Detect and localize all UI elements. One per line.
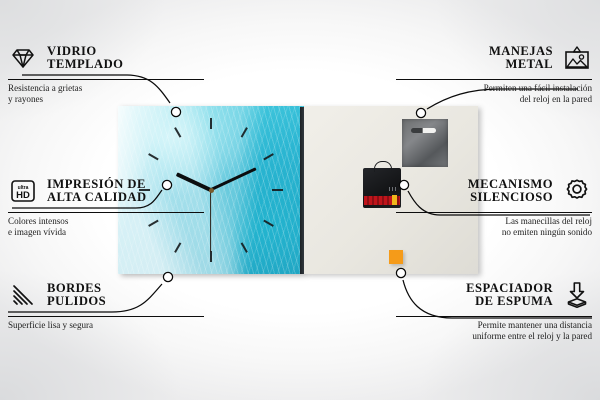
feature-divider (8, 316, 204, 317)
feature-title: BORDES PULIDOS (47, 282, 106, 309)
orange-foam-spacer (389, 250, 403, 264)
feature-divider (396, 212, 592, 213)
clock-tick (210, 118, 212, 129)
feature-tempered-glass: VIDRIO TEMPLADO Resistencia a grietas y … (8, 40, 204, 106)
feature-description: Permite mantener una distancia uniforme … (396, 320, 592, 343)
feature-metal-handles: MANEJAS METAL Permiten una fácil instala… (396, 40, 592, 106)
mechanism-label (364, 196, 400, 205)
feature-header: VIDRIO TEMPLADO (8, 40, 204, 76)
diamond-icon (8, 43, 38, 73)
feature-title: MANEJAS METAL (489, 45, 553, 72)
feature-header: BORDES PULIDOS (8, 277, 204, 313)
clock-tick (210, 251, 212, 262)
svg-text:HD: HD (16, 190, 30, 201)
ultra-hd-icon: ultra HD (8, 176, 38, 206)
feature-divider (8, 79, 204, 80)
feature-header: ultra HD IMPRESIÓN DE ALTA CALIDAD (8, 173, 204, 209)
feature-polished-edges: BORDES PULIDOS Superficie lisa y segura (8, 277, 204, 331)
feature-description: Superficie lisa y segura (8, 320, 204, 331)
feature-header: ESPACIADOR DE ESPUMA (396, 277, 592, 313)
feature-divider (8, 212, 204, 213)
metal-hanger-plate (402, 119, 448, 167)
feature-divider (396, 79, 592, 80)
clock-center-cap (209, 188, 214, 193)
feature-header: MECANISMO SILENCIOSO (396, 173, 592, 209)
hanger-slot (411, 128, 436, 133)
feature-title: ESPACIADOR DE ESPUMA (466, 282, 553, 309)
polished-edges-icon (8, 280, 38, 310)
picture-frame-icon (562, 43, 592, 73)
feature-silent-mechanism: MECANISMO SILENCIOSO Las manecillas del … (396, 173, 592, 239)
foam-spacer-icon (562, 280, 592, 310)
feature-description: Las manecillas del reloj no emiten ningú… (396, 216, 592, 239)
feature-foam-spacer: ESPACIADOR DE ESPUMA Permite mantener un… (396, 277, 592, 343)
feature-description: Colores intensos e imagen vívida (8, 216, 204, 239)
gear-icon (562, 176, 592, 206)
feature-title: MECANISMO SILENCIOSO (468, 178, 553, 205)
feature-description: Resistencia a grietas y rayones (8, 83, 204, 106)
feature-high-quality-print: ultra HD IMPRESIÓN DE ALTA CALIDAD Color… (8, 173, 204, 239)
feature-description: Permiten una fácil instalación del reloj… (396, 83, 592, 106)
feature-header: MANEJAS METAL (396, 40, 592, 76)
clock-tick (272, 189, 283, 191)
mechanism-hook (374, 161, 392, 172)
product-infographic: VIDRIO TEMPLADO Resistencia a grietas y … (0, 0, 600, 400)
feature-divider (396, 316, 592, 317)
feature-title: VIDRIO TEMPLADO (47, 45, 123, 72)
feature-title: IMPRESIÓN DE ALTA CALIDAD (47, 178, 147, 205)
